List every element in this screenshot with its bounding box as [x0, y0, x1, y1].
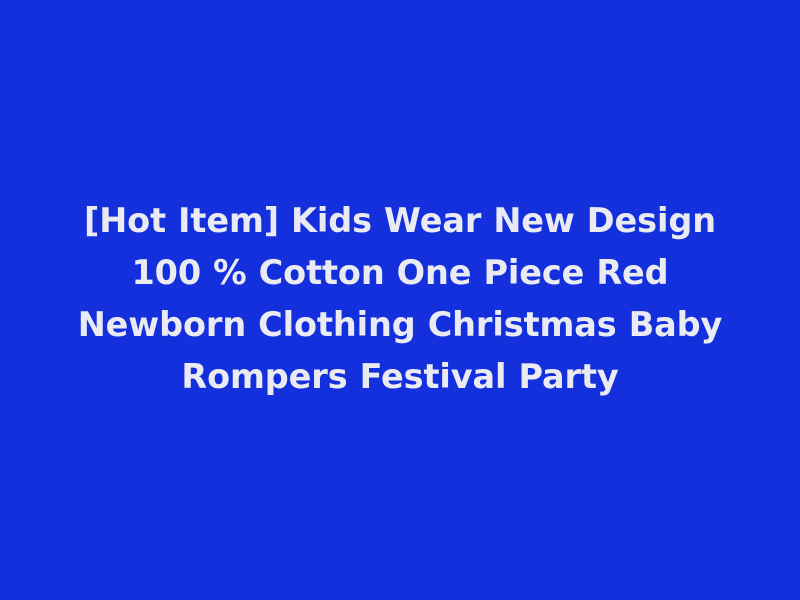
product-title: [Hot Item] Kids Wear New Design 100 % Co… — [44, 195, 756, 403]
title-card: [Hot Item] Kids Wear New Design 100 % Co… — [0, 0, 800, 600]
